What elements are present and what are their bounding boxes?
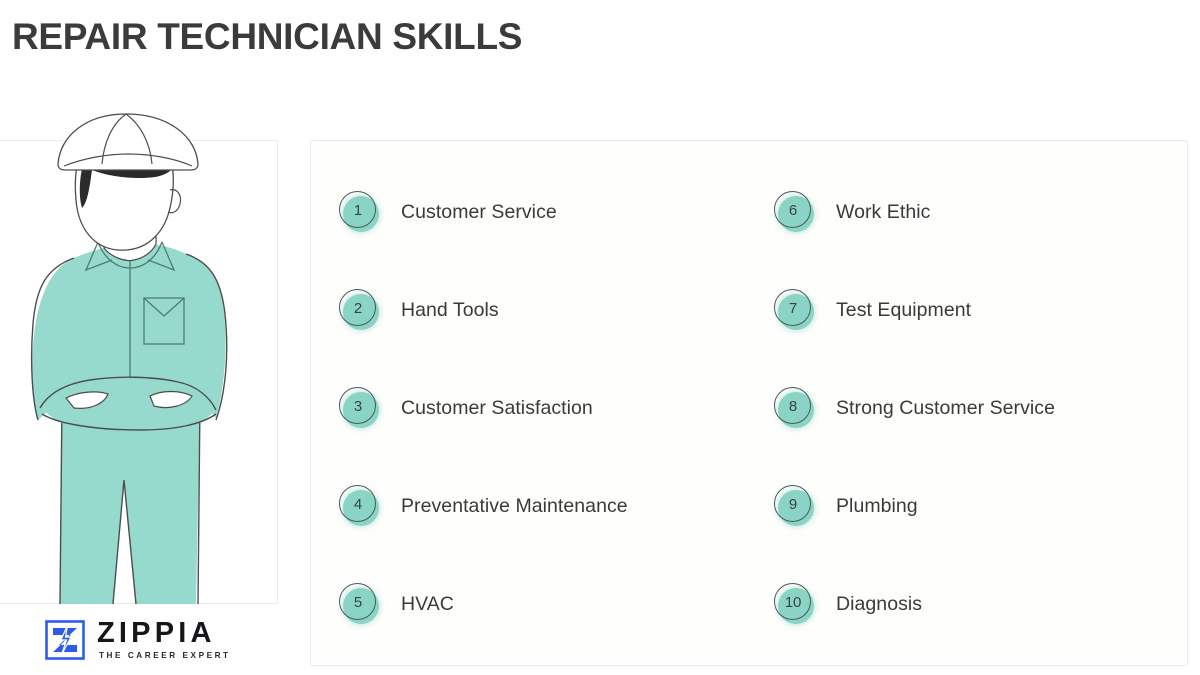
skill-item-9[interactable]: 9 Plumbing: [746, 457, 1189, 555]
skill-label: Preventative Maintenance: [401, 495, 628, 518]
badge-number: 9: [774, 485, 812, 523]
skill-label: HVAC: [401, 593, 454, 616]
zippia-wordmark: ZIPPIA: [97, 619, 231, 648]
badge-number: 6: [774, 191, 812, 229]
zippia-tagline: THE CAREER EXPERT: [99, 652, 231, 660]
skill-number-badge: 6: [774, 191, 816, 233]
page-title: REPAIR TECHNICIAN SKILLS: [12, 16, 522, 58]
skill-item-2[interactable]: 2 Hand Tools: [311, 261, 746, 359]
skill-label: Plumbing: [836, 495, 918, 518]
badge-number: 8: [774, 387, 812, 425]
skill-label: Work Ethic: [836, 201, 930, 224]
zippia-logo: ZIPPIA THE CAREER EXPERT: [0, 605, 278, 675]
skill-label: Customer Service: [401, 201, 557, 224]
skill-number-badge: 4: [339, 485, 381, 527]
skill-label: Strong Customer Service: [836, 397, 1055, 420]
skill-item-8[interactable]: 8 Strong Customer Service: [746, 359, 1189, 457]
badge-number: 4: [339, 485, 377, 523]
zippia-z-logo-mark: [44, 619, 86, 661]
skill-label: Test Equipment: [836, 299, 971, 322]
skill-item-6[interactable]: 6 Work Ethic: [746, 163, 1189, 261]
skill-label: Hand Tools: [401, 299, 499, 322]
skill-label: Customer Satisfaction: [401, 397, 593, 420]
skill-number-badge: 10: [774, 583, 816, 625]
skill-number-badge: 5: [339, 583, 381, 625]
repair-technician-illustration: [0, 108, 280, 608]
skill-item-1[interactable]: 1 Customer Service: [311, 163, 746, 261]
skill-item-4[interactable]: 4 Preventative Maintenance: [311, 457, 746, 555]
skill-number-badge: 3: [339, 387, 381, 429]
badge-number: 7: [774, 289, 812, 327]
skills-grid: 1 Customer Service 6 Work Ethic 2 Hand T…: [311, 141, 1187, 665]
badge-number: 10: [774, 583, 812, 621]
badge-number: 3: [339, 387, 377, 425]
skill-number-badge: 8: [774, 387, 816, 429]
skill-item-5[interactable]: 5 HVAC: [311, 555, 746, 653]
badge-number: 5: [339, 583, 377, 621]
skill-number-badge: 1: [339, 191, 381, 233]
skill-number-badge: 9: [774, 485, 816, 527]
skill-number-badge: 2: [339, 289, 381, 331]
skill-label: Diagnosis: [836, 593, 922, 616]
skill-item-7[interactable]: 7 Test Equipment: [746, 261, 1189, 359]
badge-number: 2: [339, 289, 377, 327]
skill-item-3[interactable]: 3 Customer Satisfaction: [311, 359, 746, 457]
skill-number-badge: 7: [774, 289, 816, 331]
skill-item-10[interactable]: 10 Diagnosis: [746, 555, 1189, 653]
badge-number: 1: [339, 191, 377, 229]
skills-list-panel: 1 Customer Service 6 Work Ethic 2 Hand T…: [310, 140, 1188, 666]
